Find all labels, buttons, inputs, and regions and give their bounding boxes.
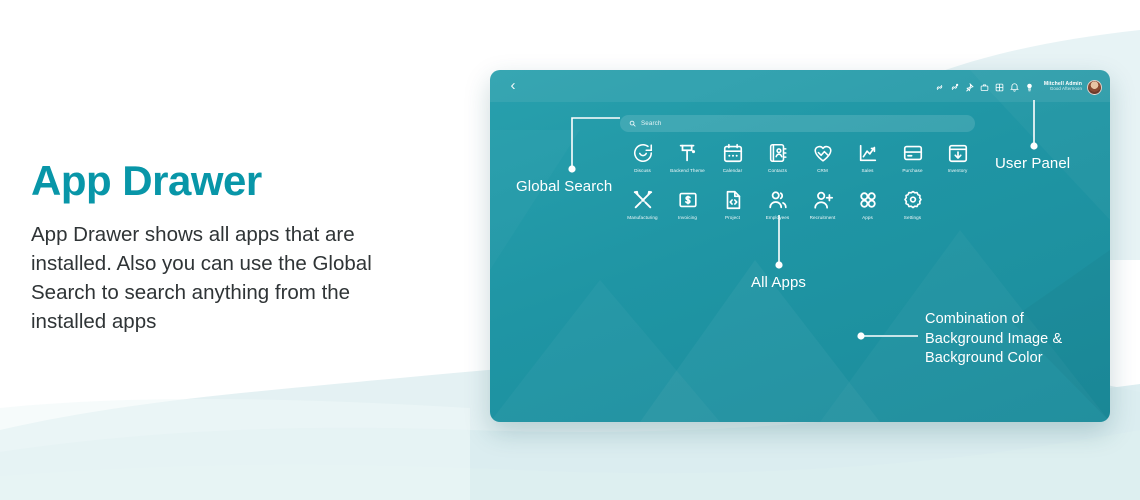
annotation-connectors (0, 0, 1140, 500)
annotation-combination-line-3: Background Color (925, 349, 1062, 369)
annotation-combination-line-1: Combination of (925, 310, 1062, 330)
annotation-combination-line-2: Background Image & (925, 330, 1062, 350)
annotation-user-panel: User Panel (995, 155, 1070, 172)
annotation-combination: Combination of Background Image & Backgr… (925, 310, 1062, 369)
slide-canvas: App Drawer App Drawer shows all apps tha… (0, 0, 1140, 500)
annotation-all-apps: All Apps (751, 274, 806, 291)
annotation-global-search: Global Search (516, 178, 612, 195)
